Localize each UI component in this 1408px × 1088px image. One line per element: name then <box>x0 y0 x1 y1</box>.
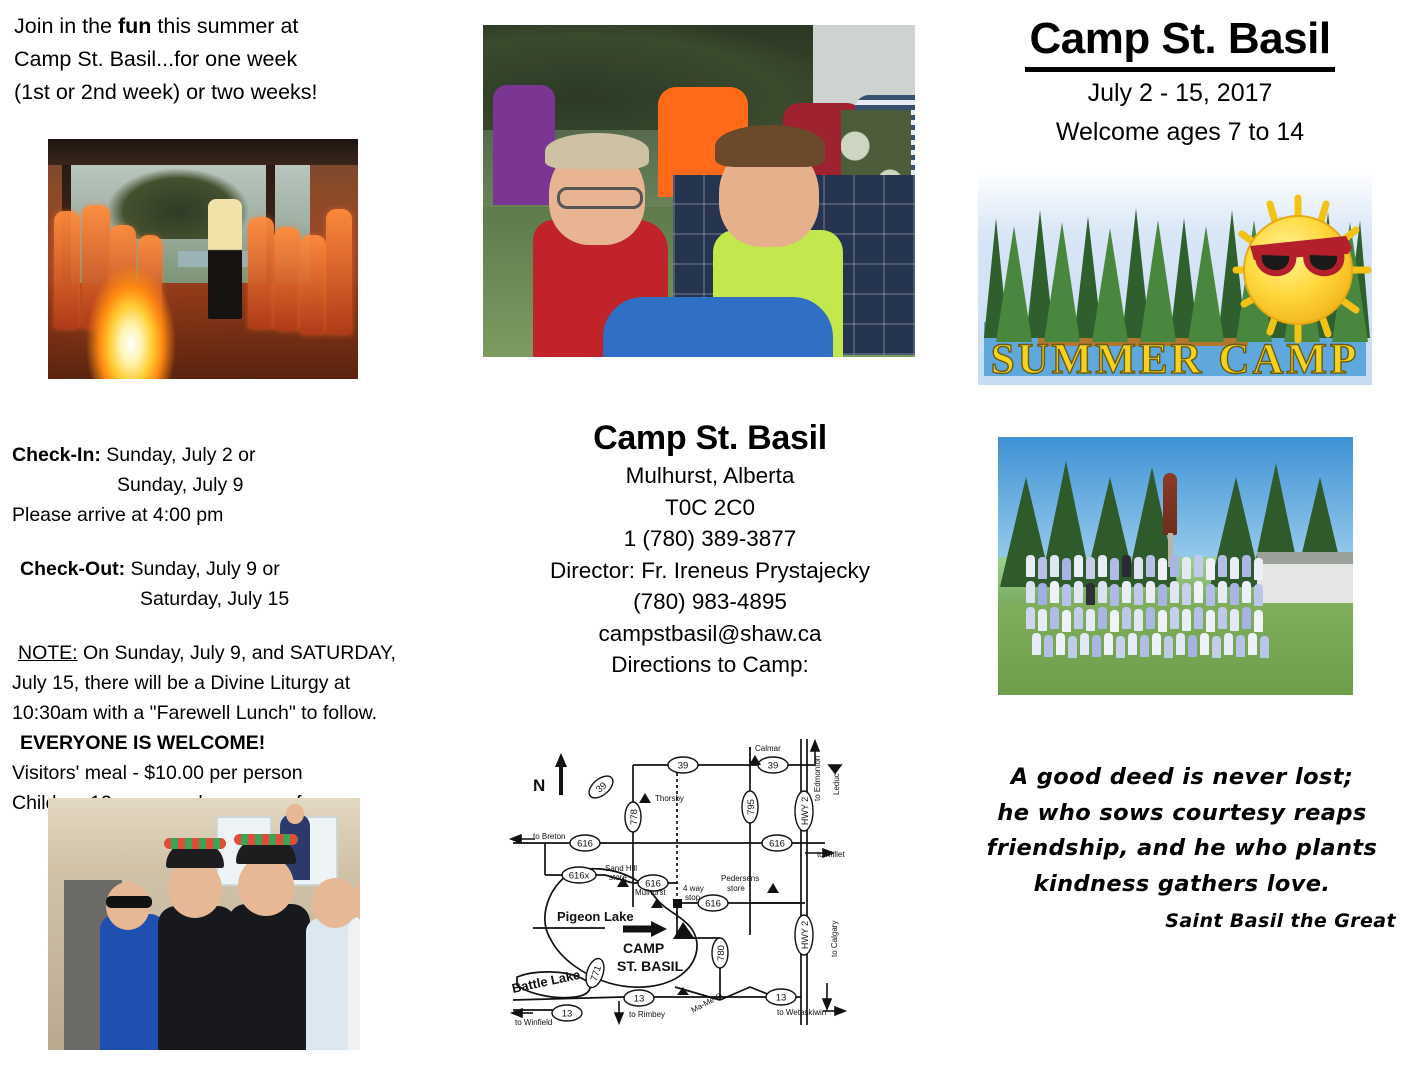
quote-line-1: A good deed is never lost; <box>962 760 1402 796</box>
photo-campfire-flame <box>76 239 186 379</box>
note-line-1: NOTE: On Sunday, July 9, and SATURDAY, <box>12 638 472 668</box>
photo-camper-purple <box>493 85 555 205</box>
intro-line-1-pre: Join in the <box>14 14 118 38</box>
intro-line-2: Camp St. Basil...for one week <box>14 43 434 76</box>
svg-text:Pigeon Lake: Pigeon Lake <box>557 909 634 924</box>
kids-on-grass-photo <box>483 25 915 357</box>
photo-boy-hair <box>545 133 649 169</box>
summer-camp-logo: SUMMER CAMP <box>978 170 1372 385</box>
camp-dates: July 2 - 15, 2017 <box>960 76 1400 111</box>
photo-shelter-roof <box>48 139 358 165</box>
svg-text:Pedersens: Pedersens <box>721 874 759 883</box>
note-text-1: On Sunday, July 9, and SATURDAY, <box>78 642 396 664</box>
map-camp-label-2: ST. BASIL <box>617 958 684 974</box>
quote-line-3: friendship, and he who plants <box>962 831 1402 867</box>
checkout-value-2: Saturday, July 15 <box>12 584 472 614</box>
photo-statue <box>1163 473 1177 535</box>
intro-line-1: Join in the fun this summer at <box>14 10 434 43</box>
checkin-info-block: Check-In: Sunday, July 2 or Sunday, July… <box>12 440 472 818</box>
intro-line-1-bold: fun <box>118 14 151 38</box>
photo-camper <box>248 217 274 329</box>
svg-text:store: store <box>609 873 627 882</box>
camp-contact-block: Camp St. Basil Mulhurst, Alberta T0C 2C0… <box>500 416 920 681</box>
svg-text:to Wetaskiwin: to Wetaskiwin <box>777 1008 826 1017</box>
photo-eyeglasses <box>557 187 643 209</box>
svg-text:778: 778 <box>629 809 640 825</box>
logo-text: SUMMER CAMP <box>991 336 1360 383</box>
note-label: NOTE: <box>18 642 78 664</box>
map-camp-label-1: CAMP <box>623 940 664 956</box>
svg-text:39: 39 <box>768 761 779 772</box>
svg-text:HWY 2: HWY 2 <box>800 921 810 949</box>
quote-line-4: kindness gathers love. <box>962 867 1402 903</box>
svg-text:13: 13 <box>562 1009 573 1020</box>
contact-title: Camp St. Basil <box>500 416 920 460</box>
photo-kid-head <box>168 860 222 918</box>
kids-in-mess-hall-photo <box>48 798 360 1050</box>
contact-phone: 1 (780) 389-3877 <box>500 523 920 555</box>
spacer <box>12 614 472 638</box>
camp-group-photo <box>998 437 1353 695</box>
visitors-meal-price: Visitors' meal - $10.00 per person <box>12 758 472 788</box>
directions-label: Directions to Camp: <box>500 649 920 681</box>
contact-director-phone: (780) 983-4895 <box>500 586 920 618</box>
photo-sunglasses <box>106 896 152 908</box>
photo-cap-brim <box>164 838 226 849</box>
svg-text:Sand Hill: Sand Hill <box>605 864 637 873</box>
svg-text:to Winfield: to Winfield <box>515 1018 552 1027</box>
photo-boy-hair <box>715 125 825 167</box>
svg-text:4 way: 4 way <box>683 884 704 893</box>
contact-director: Director: Fr. Ireneus Prystajecky <box>500 555 920 587</box>
photo-blue-jeans <box>603 297 833 357</box>
intro-line-1-post: this summer at <box>151 14 298 38</box>
svg-text:to Breton: to Breton <box>533 832 565 841</box>
contact-email: campstbasil@shaw.ca <box>500 618 920 650</box>
photo-camp-leader <box>208 199 242 319</box>
svg-text:Calmar: Calmar <box>755 744 781 753</box>
camp-ages: Welcome ages 7 to 14 <box>960 115 1400 150</box>
svg-text:39: 39 <box>678 761 689 772</box>
contact-postal-code: T0C 2C0 <box>500 492 920 524</box>
contact-city: Mulhurst, Alberta <box>500 460 920 492</box>
intro-line-3: (1st or 2nd week) or two weeks! <box>14 76 434 109</box>
svg-text:stop: stop <box>685 893 701 902</box>
svg-text:780: 780 <box>716 945 727 961</box>
quote-attribution: Saint Basil the Great <box>962 904 1402 940</box>
svg-text:Thorsby: Thorsby <box>655 794 684 803</box>
photo-camper <box>326 209 352 335</box>
svg-text:HWY 2: HWY 2 <box>800 797 810 825</box>
checkin-label: Check-In: <box>12 444 101 466</box>
quote-block: A good deed is never lost; he who sows c… <box>962 760 1402 940</box>
checkout-line: Check-Out: Sunday, July 9 or <box>12 554 472 584</box>
checkin-value-2: Sunday, July 9 <box>12 470 472 500</box>
svg-text:Leduc: Leduc <box>832 773 841 795</box>
intro-text: Join in the fun this summer at Camp St. … <box>14 10 434 109</box>
svg-text:616: 616 <box>577 839 593 850</box>
photo-cap-brim <box>234 834 298 845</box>
checkout-value: Sunday, July 9 or <box>125 558 280 580</box>
note-line-2: July 15, there will be a Divine Liturgy … <box>12 668 472 698</box>
svg-text:to Rimbey: to Rimbey <box>629 1010 665 1019</box>
photo-kid-black-shirt-2 <box>228 904 310 1050</box>
photo-adult-head <box>286 804 304 824</box>
photo-girl-white-shirt-2 <box>348 916 360 1050</box>
directions-map: N 39 39 39 778 795 HWY 2 HWY 2 616 616 6… <box>505 725 877 1043</box>
quote-line-2: he who sows courtesy reaps <box>962 796 1402 832</box>
everyone-welcome-text: EVERYONE IS WELCOME! <box>12 728 472 758</box>
svg-text:N: N <box>533 776 545 795</box>
svg-text:616x: 616x <box>569 871 590 882</box>
header-block: Camp St. Basil July 2 - 15, 2017 Welcome… <box>960 12 1400 150</box>
svg-text:Mulhurst: Mulhurst <box>635 888 666 897</box>
svg-text:616: 616 <box>705 899 721 910</box>
svg-text:616: 616 <box>769 839 785 850</box>
photo-camper <box>274 227 300 331</box>
photo-camper <box>300 235 326 335</box>
photo-kid-head <box>238 856 294 916</box>
checkin-value: Sunday, July 2 or <box>101 444 256 466</box>
photo-kid-black-shirt-1 <box>158 906 236 1050</box>
photo-camper-crowd <box>1026 555 1286 667</box>
arrival-time: Please arrive at 4:00 pm <box>12 500 472 530</box>
svg-text:13: 13 <box>634 994 645 1005</box>
svg-text:store: store <box>727 884 745 893</box>
svg-text:13: 13 <box>776 993 787 1004</box>
checkout-label: Check-Out: <box>20 558 125 580</box>
checkin-line: Check-In: Sunday, July 2 or <box>12 440 472 470</box>
note-line-3: 10:30am with a "Farewell Lunch" to follo… <box>12 698 472 728</box>
page-title: Camp St. Basil <box>1025 12 1334 72</box>
svg-text:795: 795 <box>746 799 757 815</box>
spacer <box>12 530 472 554</box>
photo-kid-blue-shirt <box>100 914 166 1050</box>
svg-text:to Calgary: to Calgary <box>830 921 839 957</box>
campfire-evening-photo <box>48 139 358 379</box>
